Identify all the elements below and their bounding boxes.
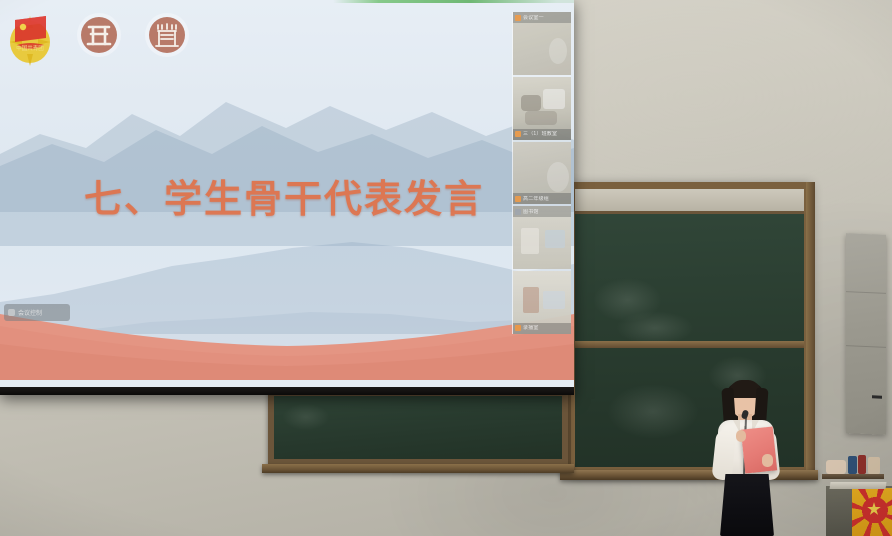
school-seal-left <box>76 12 122 63</box>
lower-left-blackboard <box>268 390 568 468</box>
shelf-item-blue-book <box>848 456 857 474</box>
participant-name: 录播室 <box>523 325 539 331</box>
participant-label: 会议室一 <box>513 12 571 23</box>
shelf-item-red-book <box>858 455 866 474</box>
participant-tile[interactable]: 录播室 <box>513 271 571 334</box>
participant-tile[interactable]: 会议室一 <box>513 12 571 75</box>
microphone-off-icon <box>515 209 521 215</box>
participant-label: 录播室 <box>513 323 571 334</box>
chalk-smudge <box>607 384 699 440</box>
app-tile-icon <box>8 309 15 316</box>
banner-paper-edge <box>830 482 887 489</box>
participant-tile[interactable]: 三（1）班教室 <box>513 77 571 140</box>
slide-taskbar-chip[interactable]: 会议控制 <box>4 304 70 321</box>
participant-label: 三（1）班教室 <box>513 129 571 140</box>
flag-banner <box>852 488 892 536</box>
school-seal-right <box>144 12 190 63</box>
slide-dune-graphic <box>0 300 574 380</box>
student-speaker <box>700 374 792 536</box>
microphone-on-icon <box>515 15 521 21</box>
wall-poster <box>846 233 886 435</box>
screen-bottom-bar <box>0 387 574 395</box>
poster-mark <box>872 395 882 398</box>
lower-blackboard-chalk-ledge <box>262 464 574 473</box>
participant-name: 会议室一 <box>523 15 544 21</box>
participant-name: 高二年级组 <box>523 196 549 202</box>
blackboard-right-post <box>806 182 815 474</box>
communist-youth-league-emblem: 中国共青团 <box>6 4 54 71</box>
participant-tile[interactable]: 图书馆 <box>513 206 571 269</box>
black-skirt <box>720 474 774 536</box>
svg-text:中国共青团: 中国共青团 <box>16 44 44 52</box>
chalk-smudge <box>593 278 662 322</box>
video-conference-participant-strip[interactable]: 会议室一 三（1）班教室 <box>512 12 571 334</box>
screenshot-stage: 中国共青团 <box>0 0 892 536</box>
wall-shelf <box>822 474 884 479</box>
microphone-on-icon <box>515 131 521 137</box>
participant-label: 图书馆 <box>513 206 571 217</box>
shelf-item-carton <box>868 457 880 474</box>
slide-taskbar-chip-label: 会议控制 <box>18 308 42 317</box>
red-speech-paper <box>741 426 777 473</box>
participant-tile[interactable]: 高二年级组 <box>513 142 571 205</box>
shelf-item-box <box>826 460 846 474</box>
blackboard-top-strip <box>575 189 804 214</box>
slide-logo-row: 中国共青团 <box>6 4 190 71</box>
microphone-on-icon <box>515 196 521 202</box>
screen-share-indicator <box>0 0 574 3</box>
projection-screen: 中国共青团 <box>0 0 574 388</box>
participant-name: 三（1）班教室 <box>523 131 557 137</box>
left-hand <box>736 430 746 442</box>
projection-screen-frame: 中国共青团 <box>0 0 574 395</box>
participant-label: 高二年级组 <box>513 193 571 204</box>
right-hand <box>762 454 773 467</box>
participant-name: 图书馆 <box>523 209 539 215</box>
slide-title: 七、学生骨干代表发言 <box>84 168 484 223</box>
blackboard-divider <box>575 341 804 348</box>
chalk-smudge <box>616 311 694 344</box>
microphone-on-icon <box>515 325 521 331</box>
